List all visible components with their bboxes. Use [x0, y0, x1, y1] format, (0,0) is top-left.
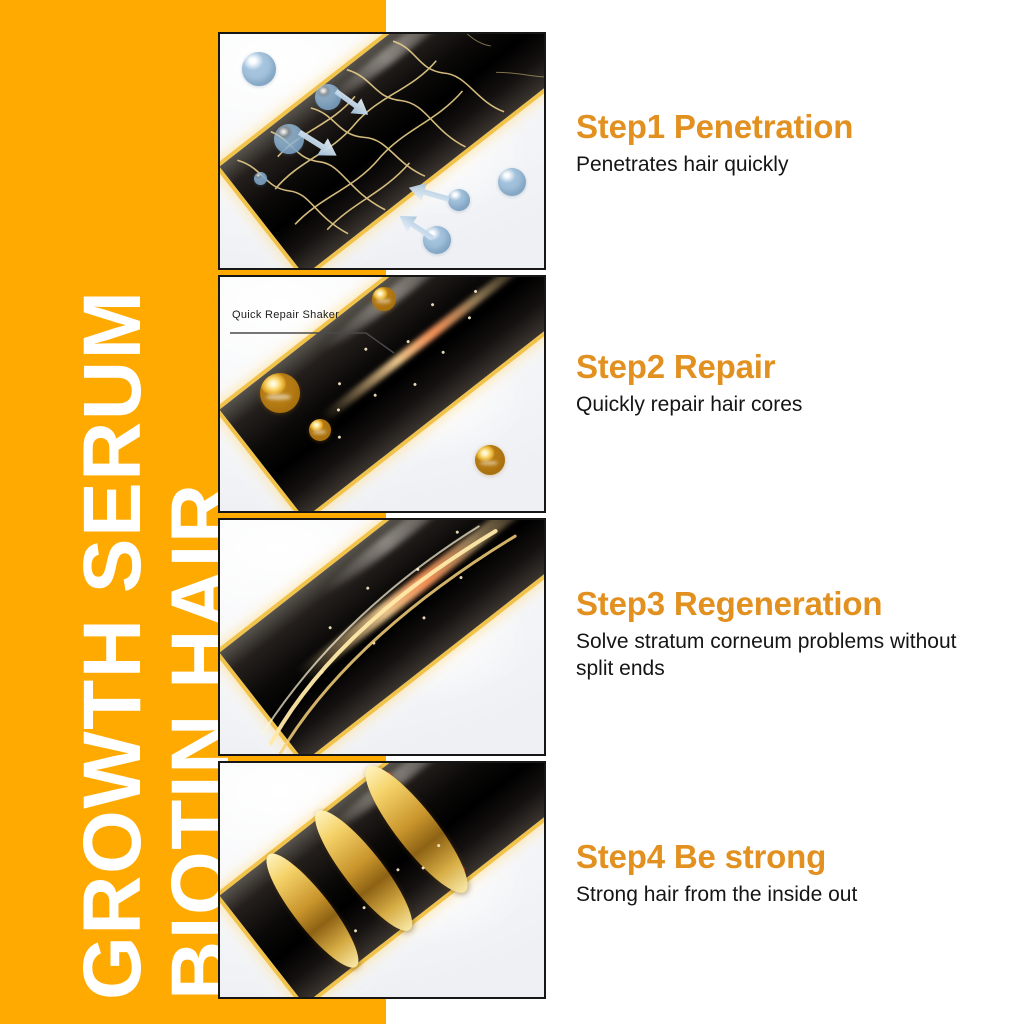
panel-regeneration-art: [220, 520, 544, 754]
step-item-2: Step2 Repair Quickly repair hair cores: [576, 348, 1006, 419]
water-droplet: [315, 84, 341, 110]
step-desc-1: Penetrates hair quickly: [576, 152, 976, 179]
panel-repair: Quick Repair Shaker: [218, 275, 546, 513]
water-droplet: [498, 168, 526, 196]
brand-title-line-2: GROWTH SERUM: [72, 290, 154, 1000]
step-list: Step1 Penetration Penetrates hair quickl…: [576, 0, 1006, 1024]
infographic-page: BIOTIN HAIR GROWTH SERUM: [0, 0, 1024, 1024]
water-droplet: [254, 172, 267, 185]
water-droplet: [423, 226, 451, 254]
step-title-2: Step2 Repair: [576, 348, 1006, 386]
panel-be-strong: [218, 761, 546, 999]
step-desc-2: Quickly repair hair cores: [576, 392, 976, 419]
step-desc-4: Strong hair from the inside out: [576, 882, 976, 909]
step-desc-3: Solve stratum corneum problems without s…: [576, 629, 976, 683]
serum-droplet: [260, 373, 300, 413]
serum-droplet: [372, 287, 396, 311]
step-title-4: Step4 Be strong: [576, 838, 1006, 876]
panel-repair-art: Quick Repair Shaker: [220, 277, 544, 511]
step-item-3: Step3 Regeneration Solve stratum corneum…: [576, 585, 1006, 683]
hair-strand-strong: [220, 763, 544, 997]
serum-droplet: [309, 419, 331, 441]
water-droplet: [448, 189, 470, 211]
panel-column: Quick Repair Shaker: [218, 32, 546, 999]
shaker-leader-line: [228, 321, 428, 355]
water-droplet: [274, 124, 304, 154]
panel-penetration-art: [220, 34, 544, 268]
serum-specks: [220, 763, 544, 997]
serum-droplet: [475, 445, 505, 475]
water-droplet: [242, 52, 276, 86]
panel-regeneration: [218, 518, 546, 756]
step-title-3: Step3 Regeneration: [576, 585, 1006, 623]
step-item-1: Step1 Penetration Penetrates hair quickl…: [576, 108, 1006, 179]
step-title-1: Step1 Penetration: [576, 108, 1006, 146]
panel-be-strong-art: [220, 763, 544, 997]
shaker-annotation-label: Quick Repair Shaker: [232, 309, 339, 321]
step-item-4: Step4 Be strong Strong hair from the ins…: [576, 838, 1006, 909]
panel-penetration: [218, 32, 546, 270]
hair-strand-regenerating: [220, 520, 544, 754]
